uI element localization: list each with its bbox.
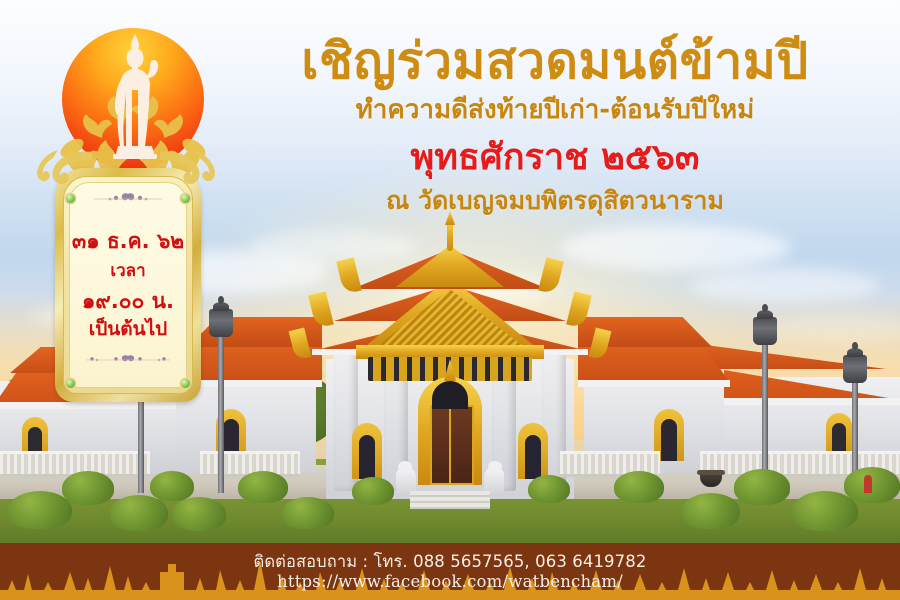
plaque-scroll-ornament-right-icon <box>158 146 218 190</box>
entrance-door <box>430 405 474 485</box>
wing-roof-trim-left <box>0 402 190 409</box>
entrance-stairs <box>410 491 490 509</box>
foreground-bush <box>352 477 394 505</box>
headline-subtitle: ทำความดีส่งท้ายปีเก่า-ต้อนรับปีใหม่ <box>215 96 895 126</box>
lamp-post <box>218 335 224 493</box>
lamp-finial <box>218 296 224 304</box>
contact-facebook-line[interactable]: https://www.facebook.com/watbencham/ <box>277 572 623 591</box>
standing-buddha-silhouette-icon <box>104 34 166 164</box>
chofa-finial <box>447 221 453 251</box>
event-time-value: ๑๙.๐๐ น. <box>82 290 174 313</box>
main-window-glass-left <box>359 435 375 479</box>
headline-block: เชิญร่วมสวดมนต์ข้ามปี ทำความดีส่งท้ายปีเ… <box>215 34 895 216</box>
event-details-plaque: ๓๑ ธ.ค. ๖๒ เวลา ๑๙.๐๐ น. เป็นต้นไป <box>55 168 201 402</box>
naga-hook-right <box>538 257 564 294</box>
naga-hook-left <box>336 257 362 294</box>
door-split <box>449 409 451 485</box>
plaque-scroll-ornament-left-icon <box>34 146 94 190</box>
foreground-bush <box>8 491 72 529</box>
foreground-bush <box>238 471 288 503</box>
guardian-lion-left-head <box>398 461 412 473</box>
foreground-bush <box>172 497 226 531</box>
plaque-bottom-ornament-icon <box>80 350 176 369</box>
foreground-bush <box>682 493 740 529</box>
lamp-finial <box>762 304 768 312</box>
foreground-bush <box>734 469 790 505</box>
plaque-gem-bottom-right <box>181 379 190 388</box>
contact-phone-line: ติดต่อสอบถาม : โทร. 088 5657565, 063 641… <box>254 552 647 571</box>
plaque-gem-top-left <box>66 194 75 203</box>
poster-canvas: ติดต่อสอบถาม : โทร. 088 5657565, 063 641… <box>0 0 900 600</box>
plaque-gem-top-right <box>181 194 190 203</box>
foreground-bush <box>62 471 114 505</box>
naga-hook-right <box>566 291 592 328</box>
page-title: เชิญร่วมสวดมนต์ข้ามปี <box>215 34 895 88</box>
plaque-content: ๓๑ ธ.ค. ๖๒ เวลา ๑๙.๐๐ น. เป็นต้นไป <box>69 182 187 388</box>
buddhist-era-year: พุทธศักราช ๒๕๖๓ <box>215 138 895 178</box>
foreground-bush <box>282 497 334 529</box>
fire-hydrant <box>864 475 872 493</box>
foreground-bush <box>150 471 194 501</box>
stone-urn-rim <box>697 470 725 475</box>
venue-line: ณ วัดเบญจมบพิตรดุสิตวนาราม <box>215 187 895 216</box>
event-time-label: เวลา <box>110 262 145 281</box>
lamp-head <box>209 309 233 337</box>
plaque-gem-bottom-left <box>66 379 75 388</box>
foreground-bush <box>110 495 168 531</box>
naga-hook-left <box>308 291 334 328</box>
foreground-bush <box>528 475 570 503</box>
main-ubosot <box>300 249 600 499</box>
guardian-lion-right-head <box>488 461 502 473</box>
lamp-head <box>753 317 777 345</box>
foreground-bush <box>844 467 900 503</box>
lamp-finial <box>852 342 858 350</box>
main-window-glass-right <box>525 435 541 479</box>
entrance-tympanum <box>432 381 468 409</box>
event-onwards: เป็นต้นไป <box>89 319 168 340</box>
inner-window-glass-right <box>661 419 677 461</box>
plaque-top-ornament-icon <box>86 189 170 208</box>
foreground-bush <box>614 471 664 503</box>
footer-contact-block: ติดต่อสอบถาม : โทร. 088 5657565, 063 641… <box>0 543 900 600</box>
footer-band: ติดต่อสอบถาม : โทร. 088 5657565, 063 641… <box>0 543 900 600</box>
inner-roof-trim-right <box>578 380 730 387</box>
event-date: ๓๑ ธ.ค. ๖๒ <box>72 230 184 253</box>
lamp-head <box>843 355 867 383</box>
